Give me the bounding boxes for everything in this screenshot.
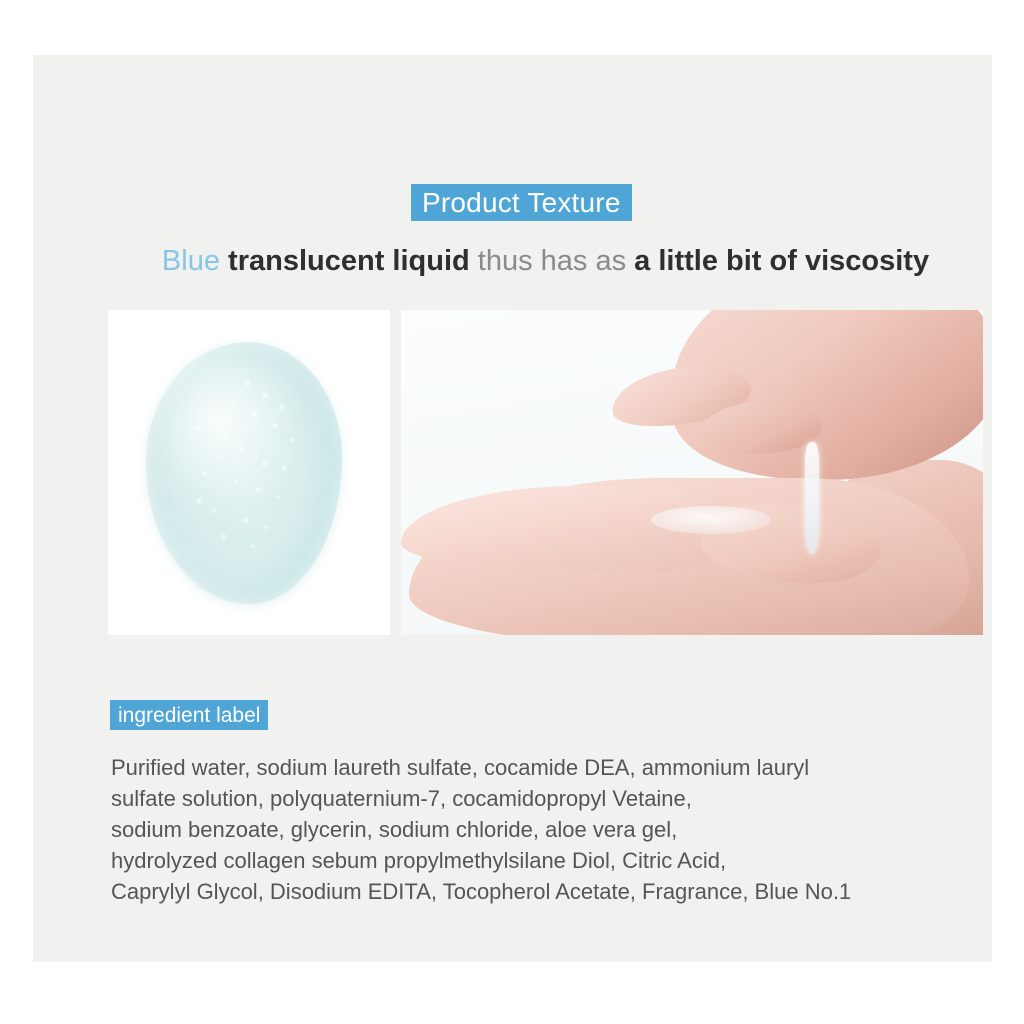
subtitle-phrase-thus-has-as: thus has as [478, 245, 626, 277]
ingredient-line: hydrolyzed collagen sebum propylmethylsi… [111, 845, 1001, 876]
product-texture-badge: Product Texture [411, 184, 632, 221]
ingredient-line: sodium benzoate, glycerin, sodium chlori… [111, 814, 1001, 845]
liquid-pool-highlight [651, 506, 771, 534]
product-detail-page: Product Texture Blue translucent liquid … [0, 0, 1024, 1024]
ingredient-line: Purified water, sodium laureth sulfate, … [111, 752, 1001, 783]
ingredient-label-badge-text: ingredient label [118, 705, 260, 726]
subtitle-phrase-translucent-liquid: translucent liquid [228, 245, 470, 277]
ingredient-label-badge: ingredient label [110, 700, 268, 730]
gel-blob-shape [146, 342, 342, 604]
texture-subtitle: Blue translucent liquid thus has as a li… [66, 243, 1024, 279]
content-panel: Product Texture Blue translucent liquid … [33, 55, 992, 962]
ingredient-line: sulfate solution, polyquaternium-7, coca… [111, 783, 1001, 814]
liquid-stream [805, 442, 819, 554]
ingredient-line: Caprylyl Glycol, Disodium EDITA, Tocophe… [111, 876, 1001, 907]
gel-texture-image [108, 310, 390, 635]
subtitle-word-blue: Blue [162, 245, 220, 277]
texture-image-row [108, 310, 983, 635]
hands-pouring-liquid-image [401, 310, 983, 635]
ingredient-list: Purified water, sodium laureth sulfate, … [111, 752, 1001, 907]
product-texture-badge-label: Product Texture [422, 189, 621, 217]
subtitle-phrase-viscosity: a little bit of viscosity [634, 245, 929, 277]
